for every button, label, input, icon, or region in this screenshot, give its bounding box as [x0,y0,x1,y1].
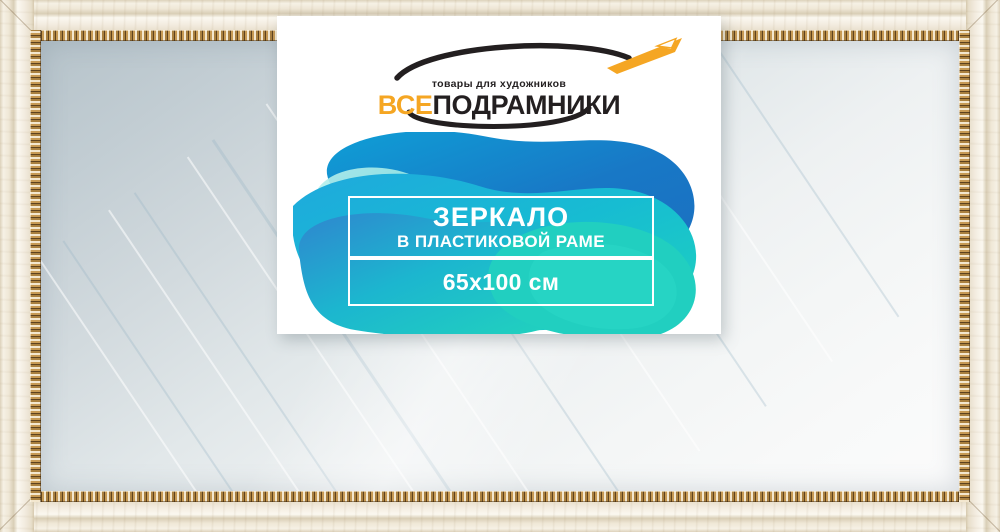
label-title: ЗЕРКАЛО [433,203,569,232]
bead-band-left [30,30,41,502]
label-title-box: ЗЕРКАЛО В ПЛАСТИКОВОЙ РАМЕ [348,196,654,258]
brand-tagline: товары для художников [277,78,721,90]
bead-band-right [959,30,970,502]
frame-molding-left [0,0,34,532]
brand-logo: товары для художников ВСЕПОДРАМНИКИ [277,28,721,132]
label-subtitle: В ПЛАСТИКОВОЙ РАМЕ [397,232,605,251]
frame-molding-bottom [0,498,1000,532]
brand-name: ВСЕПОДРАМНИКИ [277,90,721,121]
bead-band-bottom [30,491,970,502]
swoosh-top-icon [397,46,629,78]
label-size-box: 65x100 см [348,258,654,306]
brand-name-prefix: ВСЕ [378,90,433,120]
label-size: 65x100 см [443,269,560,296]
brand-name-suffix: ПОДРАМНИКИ [433,90,621,120]
frame-molding-right [966,0,1000,532]
product-photo: товары для художников ВСЕПОДРАМНИКИ [0,0,1000,532]
